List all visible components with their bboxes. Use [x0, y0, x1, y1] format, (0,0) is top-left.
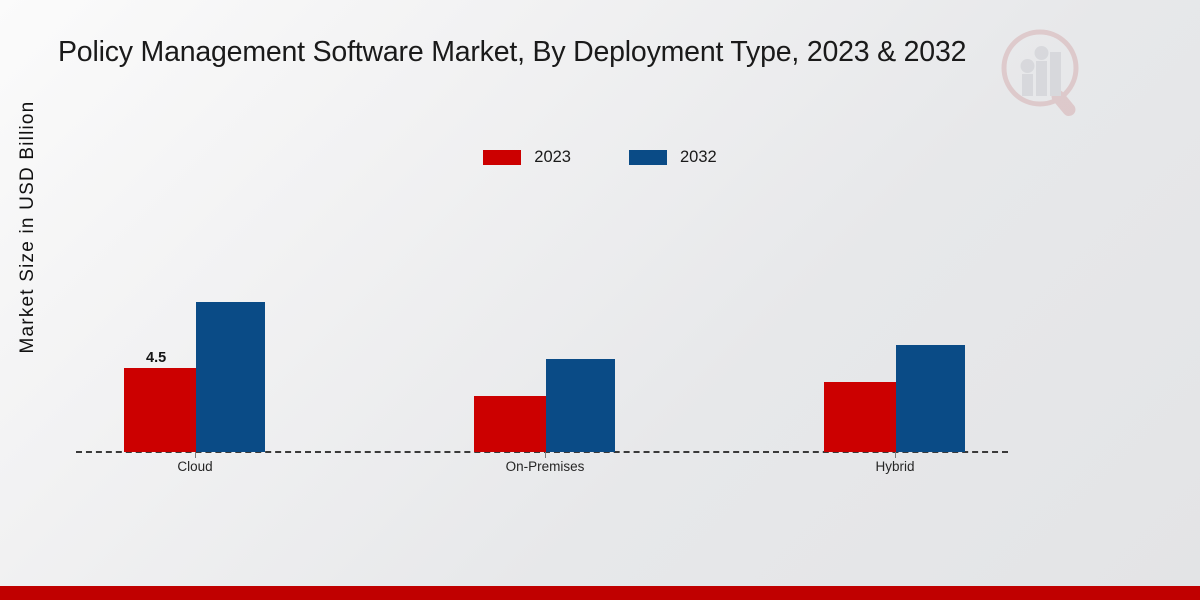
chart-title: Policy Management Software Market, By De…	[58, 36, 966, 69]
tick-mark-on-premises	[545, 452, 546, 458]
legend-item-2023[interactable]: 2023	[483, 148, 571, 167]
legend-label-2023: 2023	[534, 148, 571, 167]
bar-2032-cloud[interactable]	[196, 302, 265, 452]
legend-label-2032: 2032	[680, 148, 717, 167]
bar-2032-on-premises[interactable]	[546, 359, 615, 452]
chart-legend: 2023 2032	[0, 148, 1200, 167]
y-axis-title: Market Size in USD Billion	[17, 57, 39, 397]
category-label-hybrid: Hybrid	[875, 459, 914, 474]
bar-value-2023-cloud: 4.5	[146, 350, 166, 366]
legend-swatch-2023	[483, 150, 521, 165]
legend-item-2032[interactable]: 2032	[629, 148, 717, 167]
footer-accent-bar	[0, 586, 1200, 600]
x-axis-baseline	[76, 451, 1008, 453]
plot-area: 4.5 Cloud On-Premises Hybrid	[0, 0, 1200, 600]
category-label-on-premises: On-Premises	[506, 459, 585, 474]
watermark-logo	[1000, 28, 1084, 120]
bar-2032-hybrid[interactable]	[896, 345, 965, 452]
tick-mark-hybrid	[895, 452, 896, 458]
bar-2023-hybrid[interactable]	[824, 382, 896, 452]
tick-mark-cloud	[195, 452, 196, 458]
category-label-cloud: Cloud	[177, 459, 212, 474]
bar-2023-on-premises[interactable]	[474, 396, 546, 452]
bar-2023-cloud[interactable]	[124, 368, 196, 452]
legend-swatch-2032	[629, 150, 667, 165]
